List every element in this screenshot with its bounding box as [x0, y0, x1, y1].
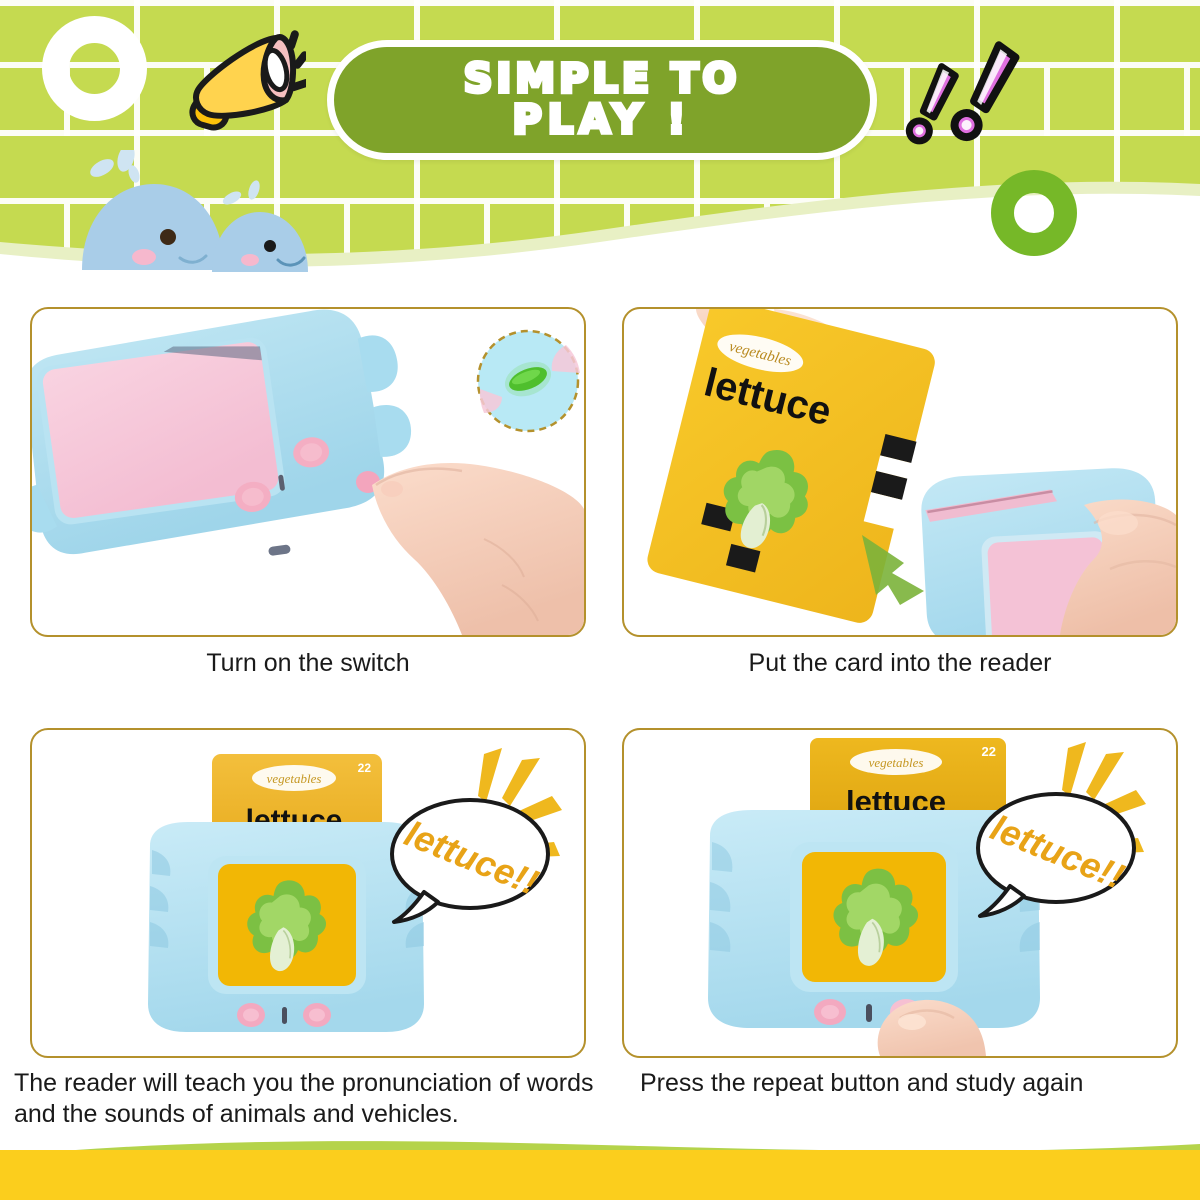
panel-insert-card: vegetables lettuce	[622, 307, 1178, 637]
title-line-2: PLAY !	[464, 100, 741, 141]
card-reader-device	[148, 822, 424, 1032]
card-number-label: 22	[358, 761, 372, 775]
header-banner: SIMPLE TO PLAY !	[0, 0, 1200, 285]
panel-press-repeat: vegetables 22 lettuce	[622, 728, 1178, 1058]
panel-3-illustration: vegetables 22 lettuce	[32, 730, 584, 1056]
card-number-label: 22	[982, 744, 996, 759]
speech-bubble: lettuce!!	[392, 800, 548, 922]
switch-closeup-inset	[478, 331, 580, 431]
title-line-1: SIMPLE TO	[464, 59, 741, 100]
caption-panel-2: Put the card into the reader	[622, 648, 1178, 679]
panel-1-illustration	[32, 309, 584, 635]
green-ring-icon	[991, 170, 1077, 256]
card-category-label: vegetables	[267, 771, 322, 786]
footer-yellow-band	[0, 1150, 1200, 1200]
panel-4-illustration: vegetables 22 lettuce	[624, 730, 1176, 1056]
white-ring-icon	[42, 16, 147, 121]
panel-reader-speaks: vegetables 22 lettuce	[30, 728, 586, 1058]
infographic-page: SIMPLE TO PLAY !	[0, 0, 1200, 1200]
title-banner: SIMPLE TO PLAY !	[327, 40, 877, 160]
megaphone-icon	[176, 28, 306, 145]
whale-decoration	[72, 150, 312, 285]
title-text: SIMPLE TO PLAY !	[464, 59, 741, 141]
finger-pointing	[372, 463, 584, 635]
caption-panel-3: The reader will teach you the pronunciat…	[14, 1068, 604, 1129]
panel-2-illustration: vegetables lettuce	[624, 309, 1176, 635]
caption-panel-1: Turn on the switch	[30, 648, 586, 679]
card-category-label: vegetables	[869, 755, 924, 770]
exclamation-mark-large-icon	[946, 38, 1026, 148]
panel-turn-on-switch	[30, 307, 586, 637]
caption-panel-4: Press the repeat button and study again	[640, 1068, 1200, 1099]
speech-bubble: lettuce!!	[978, 794, 1134, 916]
